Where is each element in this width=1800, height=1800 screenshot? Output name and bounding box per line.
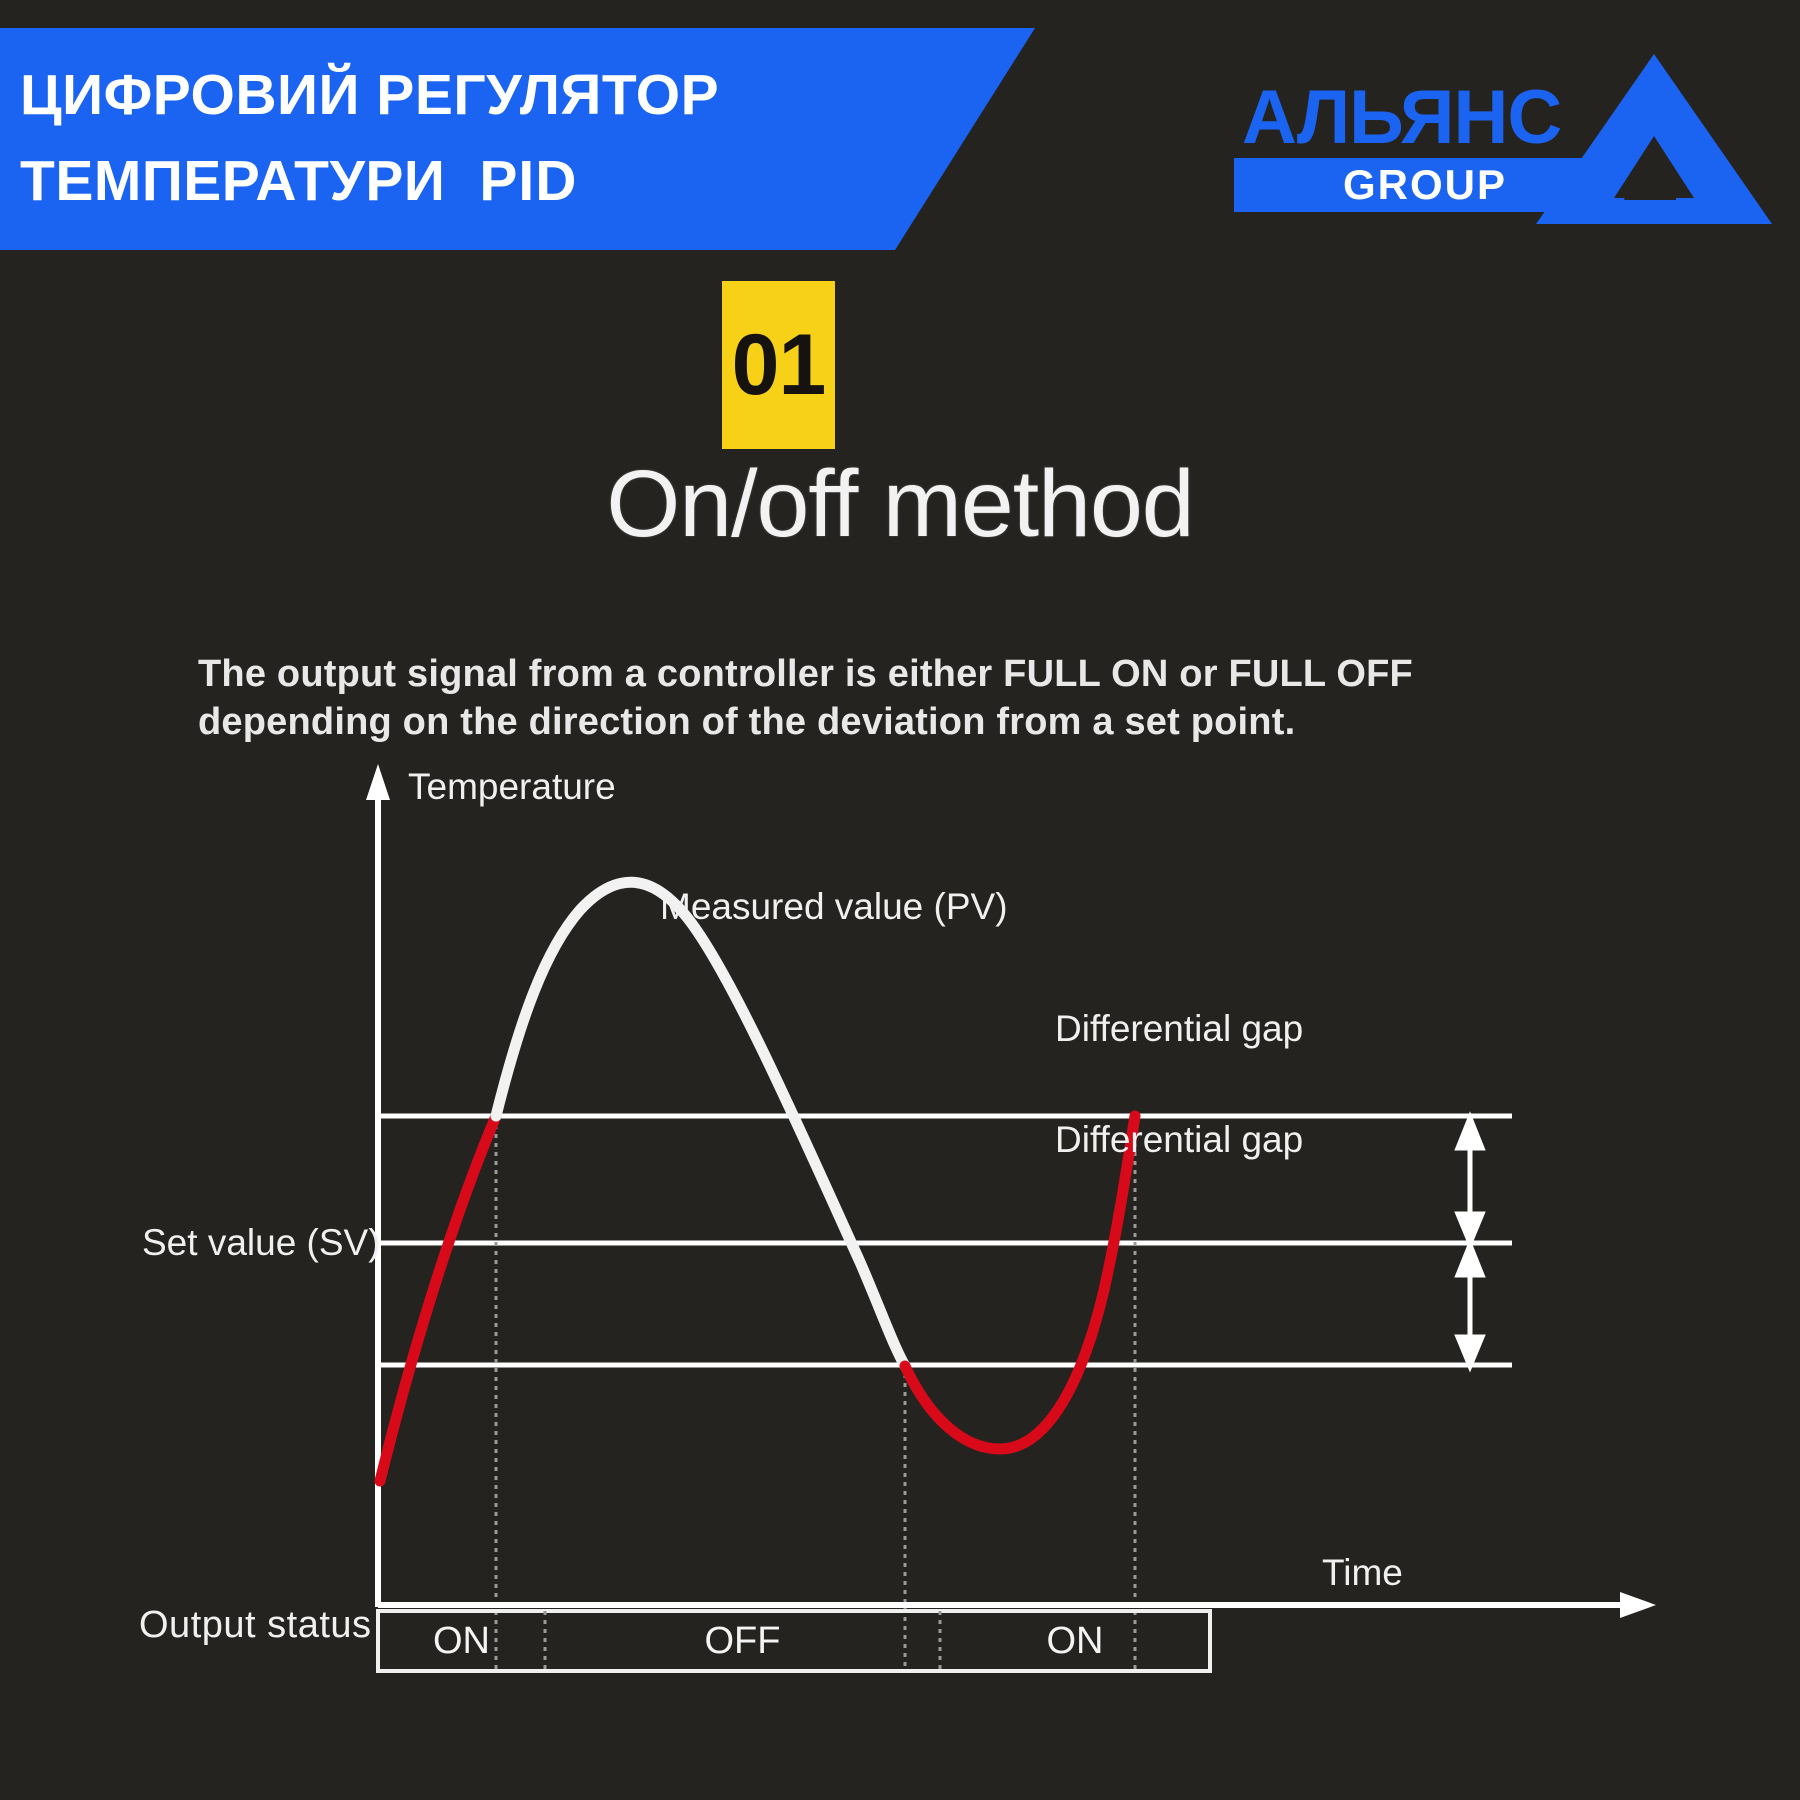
differential-gap-arrow-lower	[1458, 1245, 1482, 1366]
header-title-pid: PID	[445, 149, 577, 213]
differential-gap-arrow-upper	[1458, 1118, 1482, 1243]
header-title-line2-text: ТЕМПЕРАТУРИ	[20, 149, 445, 213]
differential-gap-label-lower: Differential gap	[1055, 1119, 1303, 1161]
set-value-label: Set value (SV)	[142, 1222, 381, 1264]
pv-curve-on-2	[905, 1116, 1135, 1449]
differential-gap-label-upper: Differential gap	[1055, 1008, 1303, 1050]
pv-curve-on-1	[380, 1116, 496, 1481]
x-axis-arrow-icon	[1620, 1592, 1656, 1618]
pv-curve-label: Measured value (PV)	[660, 886, 1008, 928]
pv-curve-off	[496, 882, 905, 1366]
onoff-method-chart: Temperature Measured value (PV) Set valu…	[0, 0, 1800, 1800]
header-title-line1: ЦИФРОВИЙ РЕГУЛЯТОР	[20, 63, 719, 127]
triangle-icon	[1536, 50, 1776, 230]
output-status-cell-3: ON	[940, 1612, 1210, 1670]
brand-logo[interactable]: АЛЬЯНС GROUP	[1056, 44, 1776, 234]
header-title: ЦИФРОВИЙ РЕГУЛЯТОР ТЕМПЕРАТУРИPID	[20, 52, 920, 224]
logo-wordmark: АЛЬЯНС	[1242, 80, 1561, 156]
x-axis-label: Time	[1322, 1552, 1403, 1594]
y-axis-label: Temperature	[408, 766, 616, 808]
slide-root: ЦИФРОВИЙ РЕГУЛЯТОР ТЕМПЕРАТУРИPID АЛЬЯНС…	[0, 0, 1800, 1800]
output-status-cell-2: OFF	[545, 1612, 940, 1670]
y-axis-arrow-icon	[366, 764, 390, 800]
header-title-line2: ТЕМПЕРАТУРИPID	[20, 138, 920, 224]
output-status-label: Output status	[139, 1604, 372, 1646]
output-status-cell-1: ON	[378, 1612, 545, 1670]
